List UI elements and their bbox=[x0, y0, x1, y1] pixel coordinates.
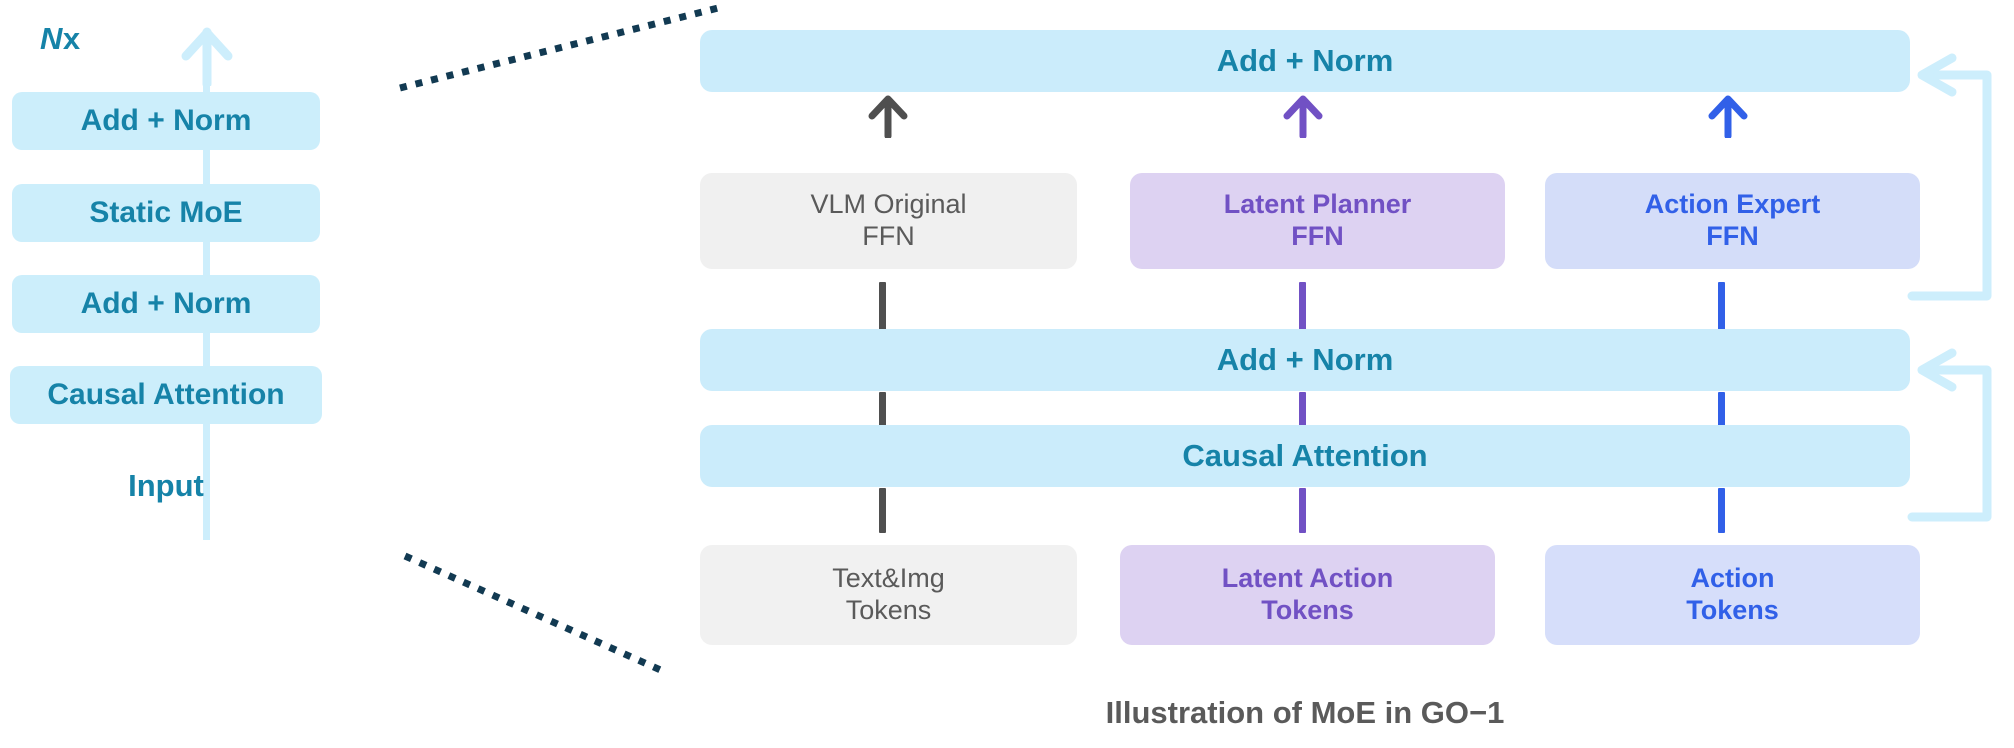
expert-ffn-line2: FFN bbox=[1291, 221, 1343, 251]
causal-attention-bar[interactable]: Causal Attention bbox=[700, 425, 1910, 487]
expert-ffn-line1: Latent Planner bbox=[1224, 189, 1412, 219]
mid-add-norm-label: Add + Norm bbox=[1217, 342, 1394, 379]
diagram-canvas: Nx Add + Norm Static MoE Add + Norm Caus… bbox=[0, 0, 2014, 748]
expert-ffn-line1: Action Expert bbox=[1645, 189, 1821, 219]
stem-addnorm-to-attention-action bbox=[1718, 392, 1725, 426]
expert-ffn-line1: VLM Original bbox=[810, 189, 966, 219]
expert-ffn-line2: FFN bbox=[862, 221, 914, 251]
stem-addnorm-to-attention-vlm bbox=[879, 392, 886, 426]
token-box-latent-action[interactable]: Latent ActionTokens bbox=[1120, 545, 1495, 645]
token-box-label: Latent ActionTokens bbox=[1222, 563, 1394, 627]
arrow-up-icon-planner bbox=[1275, 94, 1331, 138]
expert-ffn-label: Latent PlannerFFN bbox=[1224, 189, 1412, 253]
top-add-norm-bar[interactable]: Add + Norm bbox=[700, 30, 1910, 92]
stem-planner-ffn-to-addnorm bbox=[1299, 282, 1306, 332]
token-box-line2: Tokens bbox=[846, 595, 932, 625]
stem-action-ffn-to-addnorm bbox=[1718, 282, 1725, 332]
expert-ffn-label: VLM OriginalFFN bbox=[810, 189, 966, 253]
token-box-line1: Action bbox=[1691, 563, 1775, 593]
stem-textimg-tokens-to-attention bbox=[879, 488, 886, 533]
token-box-line2: Tokens bbox=[1686, 595, 1779, 625]
caption-wrapper: Illustration of MoE in GO−1 bbox=[700, 695, 1910, 731]
stem-vlm-ffn-to-addnorm bbox=[879, 282, 886, 332]
token-box-label: Text&ImgTokens bbox=[832, 563, 945, 627]
expert-ffn-line2: FFN bbox=[1706, 221, 1758, 251]
token-box-action[interactable]: ActionTokens bbox=[1545, 545, 1920, 645]
token-box-line2: Tokens bbox=[1261, 595, 1354, 625]
causal-attention-label: Causal Attention bbox=[1182, 438, 1427, 475]
expert-ffn-action-expert[interactable]: Action ExpertFFN bbox=[1545, 173, 1920, 269]
expert-ffn-vlm[interactable]: VLM OriginalFFN bbox=[700, 173, 1077, 269]
mid-add-norm-bar[interactable]: Add + Norm bbox=[700, 329, 1910, 391]
token-box-line1: Text&Img bbox=[832, 563, 945, 593]
arrow-up-icon-vlm bbox=[860, 94, 916, 138]
figure-caption: Illustration of MoE in GO−1 bbox=[700, 695, 1910, 731]
stem-addnorm-to-attention-planner bbox=[1299, 392, 1306, 426]
expert-ffn-latent-planner[interactable]: Latent PlannerFFN bbox=[1130, 173, 1505, 269]
token-box-line1: Latent Action bbox=[1222, 563, 1394, 593]
stem-latent-tokens-to-attention bbox=[1299, 488, 1306, 533]
token-box-text-img[interactable]: Text&ImgTokens bbox=[700, 545, 1077, 645]
top-add-norm-label: Add + Norm bbox=[1217, 43, 1394, 80]
expert-ffn-label: Action ExpertFFN bbox=[1645, 189, 1821, 253]
token-box-label: ActionTokens bbox=[1686, 563, 1779, 627]
right-panel: Add + Norm VLM OriginalFFN Latent Planne… bbox=[0, 0, 2014, 700]
stem-action-tokens-to-attention bbox=[1718, 488, 1725, 533]
arrow-up-icon-action bbox=[1700, 94, 1756, 138]
